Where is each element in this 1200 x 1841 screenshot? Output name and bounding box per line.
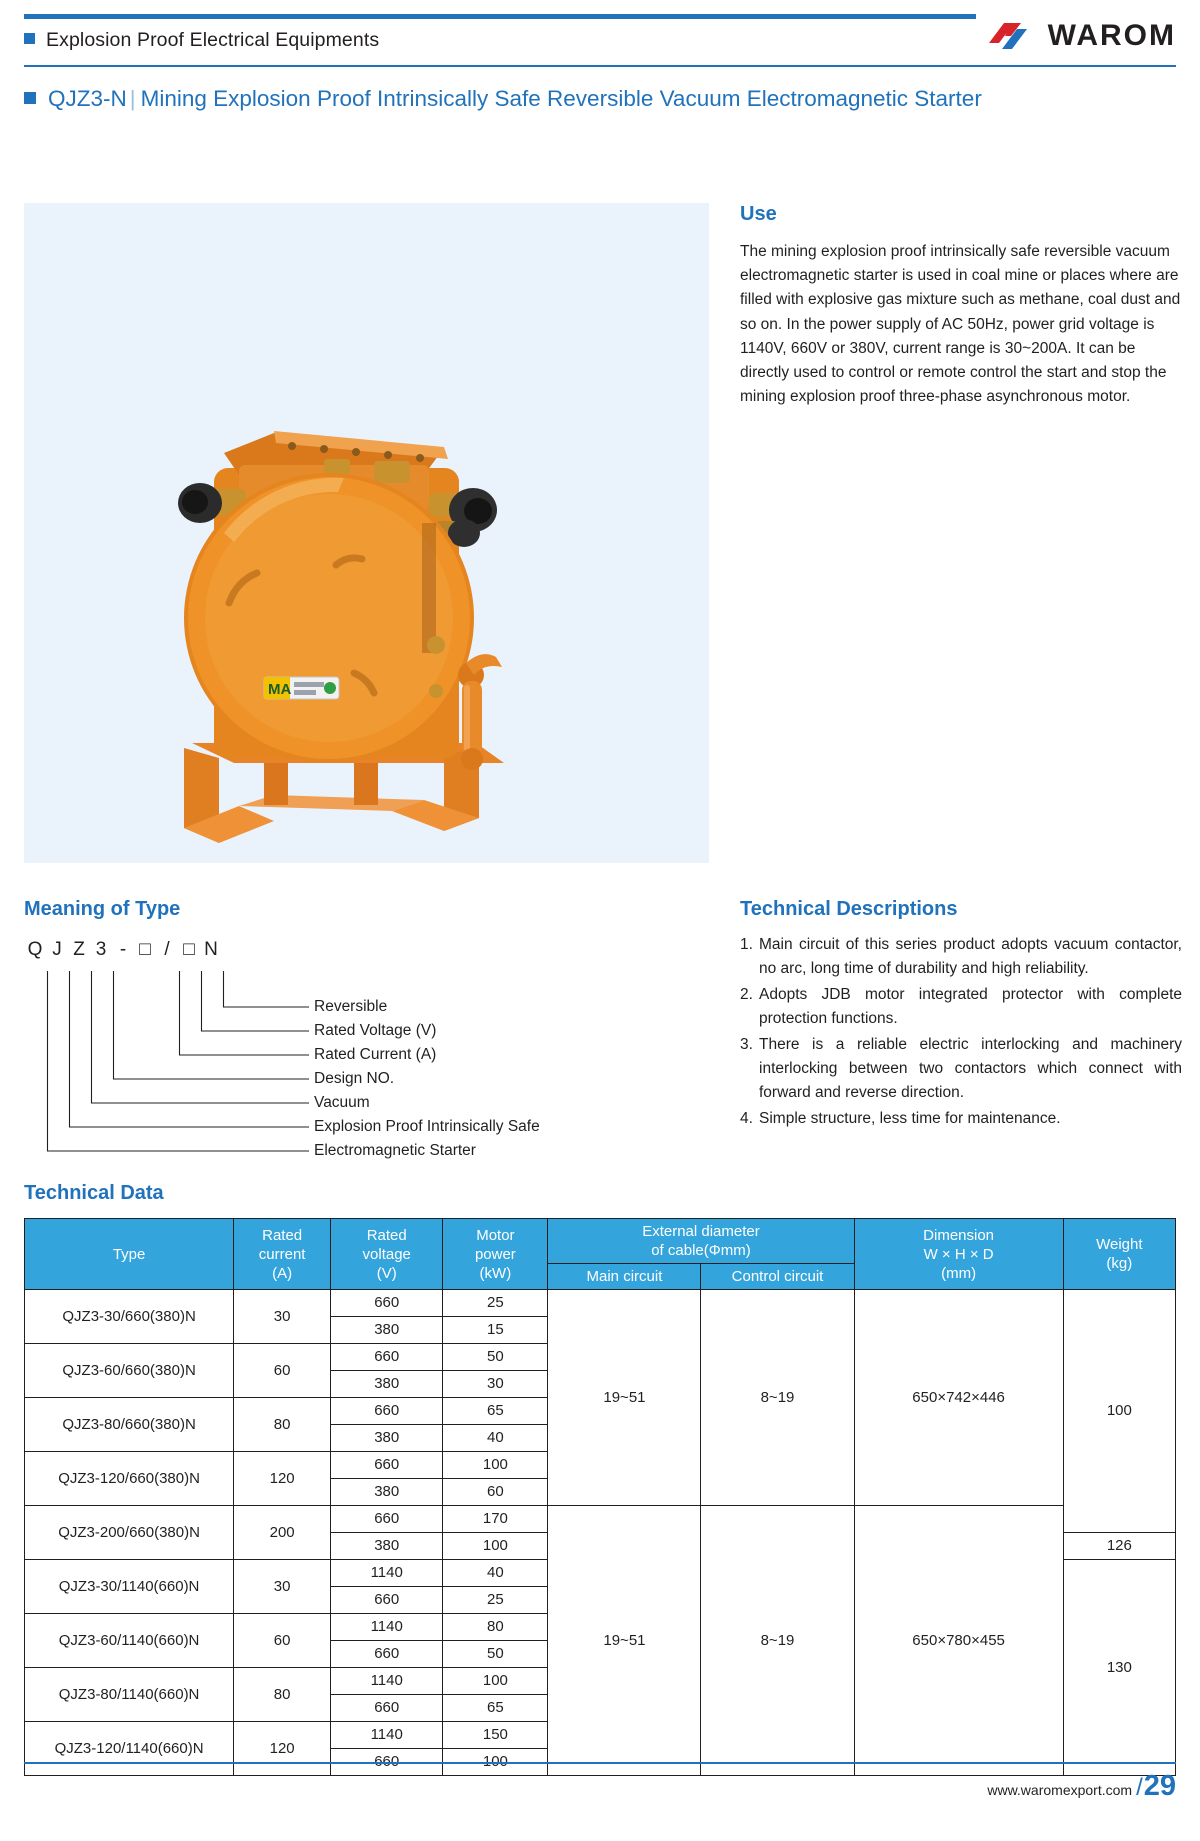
meaning-label-5: Explosion Proof Intrinsically Safe — [314, 1118, 540, 1136]
cell-power: 60 — [443, 1479, 548, 1506]
cell-power: 25 — [443, 1587, 548, 1614]
col-rated-current: Rated current (A) — [234, 1219, 331, 1290]
cell-main-circuit-g2: 19~51 — [548, 1506, 701, 1776]
col-type: Type — [25, 1219, 234, 1290]
product-title: QJZ3-N|Mining Explosion Proof Intrinsica… — [24, 86, 982, 112]
use-section: Use The mining explosion proof intrinsic… — [740, 203, 1182, 409]
cell-power: 100 — [443, 1452, 548, 1479]
type-code-row: QJZ3-□/□N — [24, 939, 704, 965]
col-cable-l2: of cable(Φmm) — [550, 1241, 851, 1260]
code-char-3: 3 — [90, 939, 112, 961]
cell-type: QJZ3-80/1140(660)N — [25, 1668, 234, 1722]
cell-voltage: 660 — [331, 1344, 443, 1371]
technical-description-item: 4. Simple structure, less time for maint… — [740, 1107, 1182, 1131]
technical-description-item: 1. Main circuit of this series product a… — [740, 933, 1182, 981]
header-title-text: Explosion Proof Electrical Equipments — [46, 29, 379, 51]
meaning-label-0: Reversible — [314, 998, 387, 1016]
cell-current: 200 — [234, 1506, 331, 1560]
col-dimension: Dimension W × H × D (mm) — [854, 1219, 1063, 1290]
col-motor-power-l2: power — [445, 1245, 545, 1264]
cell-voltage: 1140 — [331, 1722, 443, 1749]
td-number: 2. — [740, 983, 759, 1031]
cell-voltage: 1140 — [331, 1668, 443, 1695]
code-char-6: / — [156, 939, 178, 961]
cell-power: 40 — [443, 1560, 548, 1587]
cell-current: 60 — [234, 1614, 331, 1668]
cell-type: QJZ3-80/660(380)N — [25, 1398, 234, 1452]
header-rule — [24, 65, 1176, 67]
col-weight-l1: Weight — [1066, 1235, 1173, 1254]
col-weight: Weight (kg) — [1063, 1219, 1175, 1290]
product-name: Mining Explosion Proof Intrinsically Saf… — [141, 86, 982, 111]
meaning-label-1: Rated Voltage (V) — [314, 1022, 436, 1040]
warom-logo: WAROM — [944, 15, 1176, 57]
td-text: Main circuit of this series product adop… — [759, 933, 1182, 981]
bullet-square-icon-2 — [24, 92, 36, 104]
cell-voltage: 1140 — [331, 1560, 443, 1587]
cell-current: 30 — [234, 1560, 331, 1614]
cell-power: 50 — [443, 1344, 548, 1371]
cell-control-circuit-g1: 8~19 — [701, 1290, 854, 1506]
cell-current: 80 — [234, 1668, 331, 1722]
cell-voltage: 380 — [331, 1533, 443, 1560]
footer-slash: / — [1136, 1774, 1143, 1802]
col-control-circuit: Control circuit — [701, 1264, 854, 1290]
col-dimension-l3: (mm) — [857, 1264, 1061, 1283]
cell-voltage: 1140 — [331, 1614, 443, 1641]
cell-dimension-g2: 650×780×455 — [854, 1506, 1063, 1776]
top-rule — [24, 14, 976, 19]
meaning-label-4: Vacuum — [314, 1094, 370, 1112]
cell-control-circuit-g2: 8~19 — [701, 1506, 854, 1776]
cell-main-circuit-g1: 19~51 — [548, 1290, 701, 1506]
cell-power: 15 — [443, 1317, 548, 1344]
meaning-leaders: Reversible Rated Voltage (V) Rated Curre… — [24, 969, 704, 1159]
cell-power: 65 — [443, 1398, 548, 1425]
col-rated-voltage-l3: (V) — [333, 1264, 440, 1283]
page-header: Explosion Proof Electrical Equipments WA… — [24, 27, 1176, 63]
cell-type: QJZ3-60/1140(660)N — [25, 1614, 234, 1668]
cell-current: 120 — [234, 1722, 331, 1776]
cell-voltage: 380 — [331, 1371, 443, 1398]
meaning-label-2: Rated Current (A) — [314, 1046, 436, 1064]
cell-power: 25 — [443, 1290, 548, 1317]
td-number: 4. — [740, 1107, 759, 1131]
col-motor-power-l1: Motor — [445, 1226, 545, 1245]
warom-logo-text: WAROM — [1048, 19, 1176, 53]
code-char-8: N — [200, 939, 222, 961]
col-rated-voltage-l2: voltage — [333, 1245, 440, 1264]
cell-type: QJZ3-30/1140(660)N — [25, 1560, 234, 1614]
cell-voltage: 660 — [331, 1695, 443, 1722]
cell-type: QJZ3-200/660(380)N — [25, 1506, 234, 1560]
col-cable-l1: External diameter — [550, 1222, 851, 1241]
cell-current: 80 — [234, 1398, 331, 1452]
td-number: 3. — [740, 1033, 759, 1105]
code-char-1: J — [46, 939, 68, 961]
cell-voltage: 660 — [331, 1641, 443, 1668]
td-text: Simple structure, less time for maintena… — [759, 1107, 1182, 1131]
col-rated-current-l3: (A) — [236, 1264, 328, 1283]
cell-weight-g2: 130 — [1063, 1560, 1175, 1776]
technical-descriptions-heading: Technical Descriptions — [740, 898, 1182, 921]
cell-power: 80 — [443, 1614, 548, 1641]
col-dimension-l2: W × H × D — [857, 1245, 1061, 1264]
cell-voltage: 380 — [331, 1425, 443, 1452]
col-main-circuit: Main circuit — [548, 1264, 701, 1290]
code-char-5: □ — [134, 939, 156, 961]
svg-text:MA: MA — [268, 681, 291, 698]
technical-data-table: Type Rated current (A) Rated voltage (V)… — [24, 1218, 1176, 1776]
cell-power: 100 — [443, 1668, 548, 1695]
cell-dimension-g1: 650×742×446 — [854, 1290, 1063, 1506]
page-footer: www.waromexport.com / 29 — [987, 1772, 1176, 1802]
table-head: Type Rated current (A) Rated voltage (V)… — [25, 1219, 1176, 1290]
cell-power: 40 — [443, 1425, 548, 1452]
cell-current: 120 — [234, 1452, 331, 1506]
use-heading: Use — [740, 203, 1182, 226]
cell-voltage: 660 — [331, 1398, 443, 1425]
td-number: 1. — [740, 933, 759, 981]
cell-power: 30 — [443, 1371, 548, 1398]
col-dimension-l1: Dimension — [857, 1226, 1061, 1245]
page-root: Explosion Proof Electrical Equipments WA… — [0, 0, 1200, 1841]
col-weight-l2: (kg) — [1066, 1254, 1173, 1273]
cell-type: QJZ3-60/660(380)N — [25, 1344, 234, 1398]
cell-voltage: 660 — [331, 1452, 443, 1479]
cell-power: 150 — [443, 1722, 548, 1749]
use-text: The mining explosion proof intrinsically… — [740, 240, 1182, 409]
table-header-row-1: Type Rated current (A) Rated voltage (V)… — [25, 1219, 1176, 1264]
header-title: Explosion Proof Electrical Equipments — [24, 29, 379, 52]
cell-type: QJZ3-30/660(380)N — [25, 1290, 234, 1344]
cell-power: 170 — [443, 1506, 548, 1533]
td-text: Adopts JDB motor integrated protector wi… — [759, 983, 1182, 1031]
product-illustration: MA — [24, 203, 709, 863]
table-row: QJZ3-200/660(380)N 200 660 170 19~51 8~1… — [25, 1506, 1176, 1533]
product-photo: MA — [24, 203, 709, 863]
col-motor-power: Motor power (kW) — [443, 1219, 548, 1290]
cell-type: QJZ3-120/1140(660)N — [25, 1722, 234, 1776]
table-row: QJZ3-30/660(380)N 30 660 25 19~51 8~19 6… — [25, 1290, 1176, 1317]
cell-type: QJZ3-120/660(380)N — [25, 1452, 234, 1506]
col-rated-current-l2: current — [236, 1245, 328, 1264]
cell-voltage: 660 — [331, 1506, 443, 1533]
td-text: There is a reliable electric interlockin… — [759, 1033, 1182, 1105]
meaning-label-3: Design NO. — [314, 1070, 394, 1088]
cell-voltage: 660 — [331, 1290, 443, 1317]
product-model: QJZ3-N — [48, 86, 127, 111]
cell-current: 60 — [234, 1344, 331, 1398]
technical-descriptions-section: Technical Descriptions 1. Main circuit o… — [740, 898, 1182, 1133]
page-number: 29 — [1144, 1772, 1176, 1801]
cell-current: 30 — [234, 1290, 331, 1344]
technical-description-item: 2. Adopts JDB motor integrated protector… — [740, 983, 1182, 1031]
footer-website: www.waromexport.com — [987, 1782, 1132, 1798]
col-rated-voltage-l1: Rated — [333, 1226, 440, 1245]
table-body: QJZ3-30/660(380)N 30 660 25 19~51 8~19 6… — [25, 1290, 1176, 1776]
cell-weight-126: 126 — [1063, 1533, 1175, 1560]
footer-rule — [24, 1762, 1176, 1764]
meaning-of-type-section: Meaning of Type QJZ3-□/□N Reversible Rat… — [24, 898, 704, 1159]
code-char-2: Z — [68, 939, 90, 961]
code-char-4: - — [112, 939, 134, 961]
col-motor-power-l3: (kW) — [445, 1264, 545, 1283]
cell-power: 50 — [443, 1641, 548, 1668]
cell-weight-g1: 100 — [1063, 1290, 1175, 1533]
cell-voltage: 380 — [331, 1317, 443, 1344]
cell-voltage: 380 — [331, 1479, 443, 1506]
technical-data-heading: Technical Data — [24, 1182, 164, 1205]
meaning-heading: Meaning of Type — [24, 898, 704, 921]
technical-description-item: 3. There is a reliable electric interloc… — [740, 1033, 1182, 1105]
code-char-7: □ — [178, 939, 200, 961]
cell-power: 100 — [443, 1533, 548, 1560]
cell-power: 65 — [443, 1695, 548, 1722]
bullet-square-icon — [24, 33, 35, 44]
code-char-0: Q — [24, 939, 46, 961]
title-separator: | — [130, 86, 136, 111]
cell-voltage: 660 — [331, 1587, 443, 1614]
col-rated-voltage: Rated voltage (V) — [331, 1219, 443, 1290]
col-rated-current-l1: Rated — [236, 1226, 328, 1245]
warom-logo-mark — [987, 19, 1039, 53]
col-cable-diameter: External diameter of cable(Φmm) — [548, 1219, 854, 1264]
meaning-label-6: Electromagnetic Starter — [314, 1142, 476, 1160]
